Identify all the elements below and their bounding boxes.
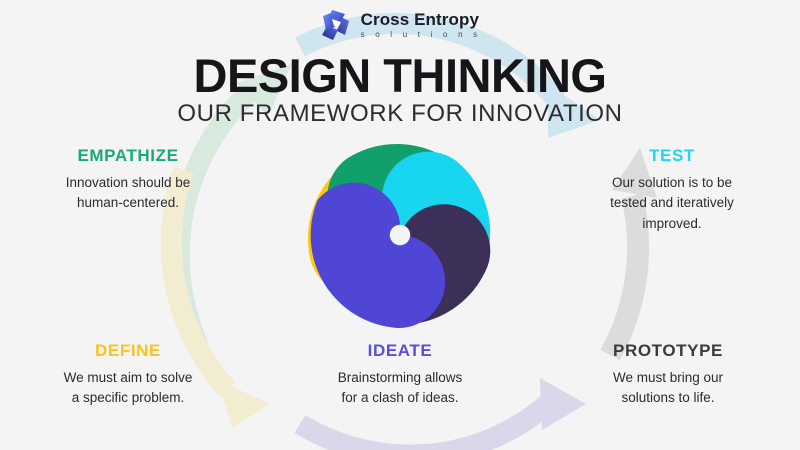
stage-define-label: DEFINE xyxy=(23,341,233,361)
stage-empathize-line1: Innovation should be xyxy=(23,173,233,193)
page-subtitle: OUR FRAMEWORK FOR INNOVATION xyxy=(0,100,800,128)
stage-define-description: We must aim to solve a specific problem. xyxy=(23,368,233,409)
stage-define-line1: We must aim to solve xyxy=(23,368,233,388)
stage-test-line3: improved. xyxy=(567,214,777,234)
stage-define-line2: a specific problem. xyxy=(23,388,233,408)
stage-test-line2: tested and iteratively xyxy=(567,193,777,213)
pinwheel-hub xyxy=(390,225,410,245)
infographic-canvas: Cross Entropy s o l u t i o n s DESIGN T… xyxy=(0,0,800,450)
stage-ideate[interactable]: IDEATE Brainstorming allows for a clash … xyxy=(295,341,505,409)
stage-prototype[interactable]: PROTOTYPE We must bring our solutions to… xyxy=(563,341,773,409)
stage-empathize-label: EMPATHIZE xyxy=(23,146,233,166)
stage-ideate-line2: for a clash of ideas. xyxy=(295,388,505,408)
stage-prototype-description: We must bring our solutions to life. xyxy=(563,368,773,409)
stage-empathize-description: Innovation should be human-centered. xyxy=(23,173,233,214)
stage-empathize-line2: human-centered. xyxy=(23,193,233,213)
stage-prototype-line2: solutions to life. xyxy=(563,388,773,408)
stage-ideate-description: Brainstorming allows for a clash of idea… xyxy=(295,368,505,409)
brand-name: Cross Entropy xyxy=(361,11,482,28)
stage-test-label: TEST xyxy=(567,146,777,166)
stage-prototype-label: PROTOTYPE xyxy=(563,341,773,361)
brand-tagline: s o l u t i o n s xyxy=(361,31,482,39)
stage-prototype-line1: We must bring our xyxy=(563,368,773,388)
cross-entropy-logo-icon xyxy=(319,8,353,42)
design-thinking-pinwheel xyxy=(307,142,493,328)
brand-logo: Cross Entropy s o l u t i o n s xyxy=(0,8,800,42)
stage-test[interactable]: TEST Our solution is to be tested and it… xyxy=(567,146,777,234)
stage-empathize[interactable]: EMPATHIZE Innovation should be human-cen… xyxy=(23,146,233,214)
stage-test-description: Our solution is to be tested and iterati… xyxy=(567,173,777,234)
stage-test-line1: Our solution is to be xyxy=(567,173,777,193)
stage-ideate-line1: Brainstorming allows xyxy=(295,368,505,388)
stage-define[interactable]: DEFINE We must aim to solve a specific p… xyxy=(23,341,233,409)
page-title: DESIGN THINKING xyxy=(0,48,800,103)
stage-ideate-label: IDEATE xyxy=(295,341,505,361)
